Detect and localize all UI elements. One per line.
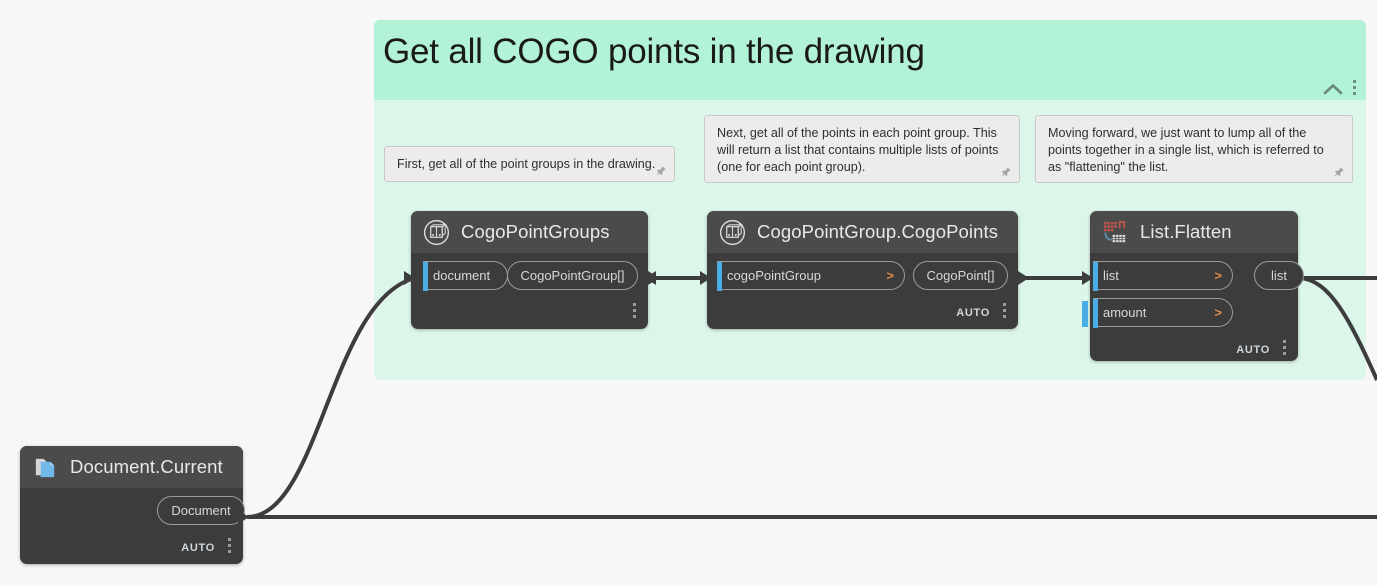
output-port-label: list	[1271, 268, 1287, 283]
node-title: CogoPointGroups	[461, 221, 610, 243]
note-card[interactable]: Moving forward, we just want to lump all…	[1035, 115, 1353, 183]
output-port-label: Document	[171, 503, 230, 518]
civil3d-node-icon	[719, 219, 746, 246]
three-dots-icon[interactable]	[630, 303, 639, 321]
port-row: cogoPointGroup > CogoPoint[]	[707, 261, 1018, 290]
three-dots-icon[interactable]	[1280, 340, 1289, 358]
output-port-list[interactable]: list	[1254, 261, 1304, 290]
node-footer: AUTO	[707, 298, 1018, 324]
note-card[interactable]: Next, get all of the points in each poin…	[704, 115, 1020, 183]
output-port-label: CogoPointGroup[]	[520, 268, 624, 283]
three-dots-icon[interactable]	[1349, 80, 1359, 98]
node-list-flatten[interactable]: List.Flatten list > list amount >	[1090, 211, 1298, 361]
note-text: Moving forward, we just want to lump all…	[1048, 125, 1340, 176]
note-text: Next, get all of the points in each poin…	[717, 125, 1007, 176]
node-body: Document AUTO	[20, 488, 243, 559]
port-marker	[1093, 262, 1098, 291]
port-row: list > list	[1090, 261, 1298, 290]
output-port-label: CogoPoint[]	[927, 268, 995, 283]
input-port-label: amount	[1103, 305, 1146, 320]
three-dots-icon[interactable]	[1000, 303, 1009, 321]
node-footer: AUTO	[20, 533, 243, 559]
port-marker-amount	[1082, 301, 1088, 327]
port-marker	[423, 262, 428, 291]
note-text: First, get all of the point groups in th…	[397, 156, 662, 173]
list-flatten-icon	[1102, 219, 1129, 246]
input-port-cogopointgroup[interactable]: cogoPointGroup >	[717, 261, 905, 290]
node-title: CogoPointGroup.CogoPoints	[757, 221, 998, 243]
note-card[interactable]: First, get all of the point groups in th…	[384, 146, 675, 182]
input-port-list[interactable]: list >	[1093, 261, 1233, 290]
node-header[interactable]: List.Flatten	[1090, 211, 1298, 253]
chevron-up-icon[interactable]	[1322, 80, 1344, 100]
node-body: list > list amount > AUTO	[1090, 253, 1298, 361]
three-dots-icon[interactable]	[225, 538, 234, 556]
output-port-document[interactable]: Document	[157, 496, 245, 525]
chevron-right-icon[interactable]: >	[886, 268, 894, 283]
port-row: Document	[20, 496, 243, 525]
output-port-cogopoint-array[interactable]: CogoPoint[]	[913, 261, 1008, 290]
auto-label: AUTO	[956, 307, 990, 319]
pushpin-icon	[655, 165, 667, 177]
auto-label: AUTO	[181, 542, 215, 554]
port-marker	[1093, 299, 1098, 328]
node-body: document CogoPointGroup[]	[411, 253, 648, 324]
node-footer: AUTO	[1090, 335, 1298, 361]
node-cogopointgroups[interactable]: CogoPointGroups document CogoPointGroup[…	[411, 211, 648, 329]
group-title: Get all COGO points in the drawing	[383, 32, 925, 72]
chevron-right-icon[interactable]: >	[1214, 268, 1222, 283]
node-title: Document.Current	[70, 456, 223, 478]
node-header[interactable]: Document.Current	[20, 446, 243, 488]
chevron-right-icon[interactable]: >	[1214, 305, 1222, 320]
node-cogopointgroup-cogopoints[interactable]: CogoPointGroup.CogoPoints cogoPointGroup…	[707, 211, 1018, 329]
port-row: document CogoPointGroup[]	[411, 261, 648, 290]
input-port-label: cogoPointGroup	[727, 268, 821, 283]
node-footer	[411, 298, 648, 324]
port-marker	[717, 262, 722, 291]
input-port-amount[interactable]: amount >	[1093, 298, 1233, 327]
input-port-document[interactable]: document	[423, 261, 508, 290]
pushpin-icon	[1333, 166, 1345, 178]
document-icon	[32, 454, 59, 481]
civil3d-node-icon	[423, 219, 450, 246]
auto-label: AUTO	[1236, 344, 1270, 356]
node-header[interactable]: CogoPointGroup.CogoPoints	[707, 211, 1018, 253]
input-port-label: list	[1103, 268, 1119, 283]
pushpin-icon	[1000, 166, 1012, 178]
input-port-label: document	[433, 268, 490, 283]
node-title: List.Flatten	[1140, 221, 1232, 243]
node-header[interactable]: CogoPointGroups	[411, 211, 648, 253]
node-body: cogoPointGroup > CogoPoint[] AUTO	[707, 253, 1018, 324]
port-row: amount >	[1090, 298, 1298, 327]
dynamo-canvas[interactable]: Get all COGO points in the drawing First…	[0, 0, 1377, 586]
node-document-current[interactable]: Document.Current Document AUTO	[20, 446, 243, 564]
output-port-cogopointgroup-array[interactable]: CogoPointGroup[]	[507, 261, 638, 290]
